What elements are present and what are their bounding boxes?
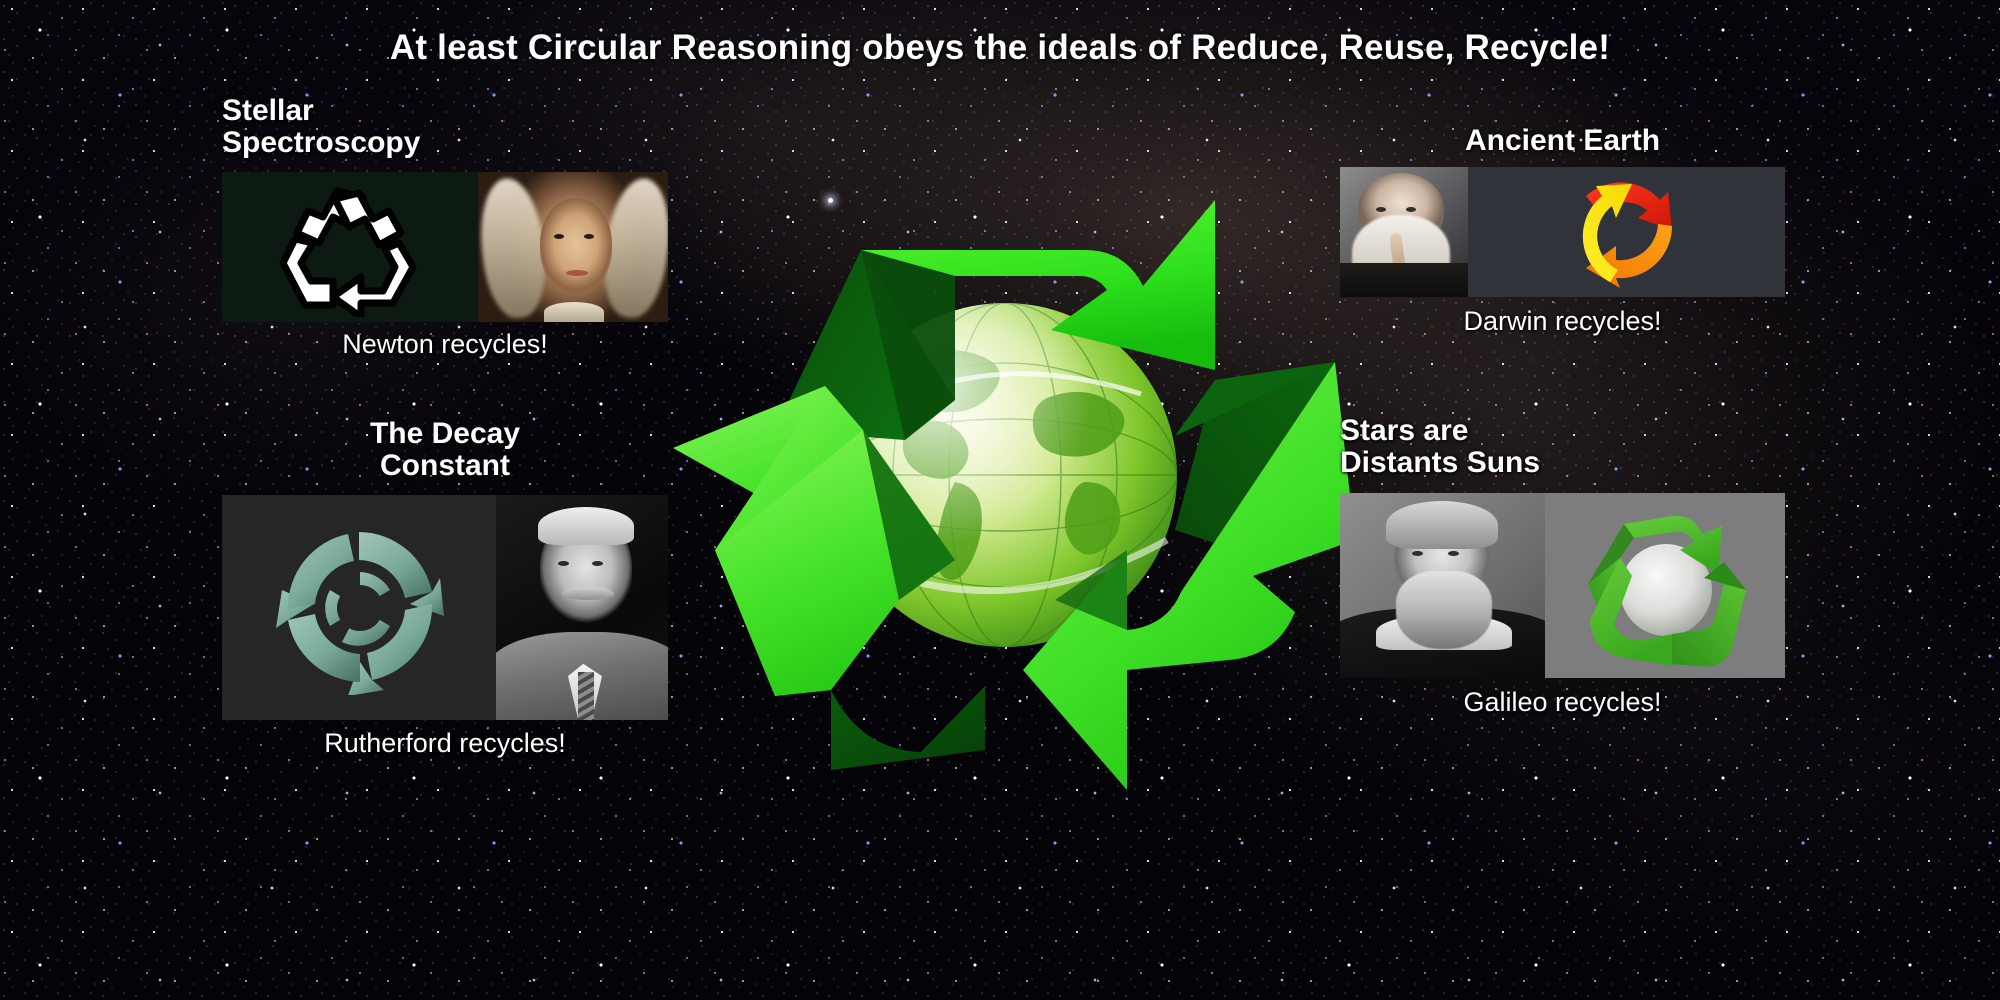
- panel-stellar-spectroscopy: Stellar Spectroscopy: [222, 95, 668, 360]
- panel-stars-distant-suns: Stars are Distants Suns: [1340, 415, 1785, 718]
- newton-eye-right: [584, 234, 594, 239]
- recycle-mobius-white-icon: [222, 172, 478, 322]
- isaac-newton-portrait: [478, 172, 668, 322]
- newton-lips: [566, 270, 588, 276]
- heading-decay-constant: The Decay Constant: [222, 418, 668, 483]
- image-panel-newton: [222, 172, 668, 322]
- galileo-beard: [1396, 571, 1492, 649]
- heading-stars-distant-suns: Stars are Distants Suns: [1340, 415, 1785, 480]
- circular-arrows-teal-icon: [222, 495, 496, 720]
- galileo-hair: [1386, 501, 1498, 549]
- caption-galileo-recycles: Galileo recycles!: [1340, 687, 1785, 718]
- image-panel-darwin: [1340, 167, 1785, 297]
- newton-eye-left: [554, 234, 564, 239]
- recycle-globe-svg: [655, 130, 1355, 840]
- caption-darwin-recycles: Darwin recycles!: [1340, 306, 1785, 337]
- galileo-eye-left: [1412, 551, 1423, 556]
- recycle-3d-green-sphere-svg: [1576, 498, 1754, 673]
- charles-darwin-portrait: [1340, 167, 1468, 297]
- rutherford-tie: [578, 672, 594, 720]
- recycle-globe-logo: [655, 130, 1355, 840]
- galileo-galilei-portrait: [1340, 493, 1545, 678]
- caption-newton-recycles: Newton recycles!: [222, 329, 668, 360]
- caption-rutherford-recycles: Rutherford recycles!: [222, 728, 668, 759]
- three-arrow-cycle-svg: [1564, 172, 1689, 292]
- heading-ancient-earth: Ancient Earth: [1340, 125, 1785, 157]
- panel-ancient-earth: Ancient Earth: [1340, 125, 1785, 337]
- meme-canvas: At least Circular Reasoning obeys the id…: [0, 0, 2000, 1000]
- recycle-3d-green-sphere-icon: [1545, 493, 1785, 678]
- circular-arrows-teal-svg: [272, 520, 447, 695]
- image-panel-rutherford: [222, 495, 668, 720]
- galileo-eye-right: [1448, 551, 1459, 556]
- newton-collar: [544, 302, 604, 322]
- darwin-suit: [1340, 263, 1468, 297]
- heading-stellar-spectroscopy: Stellar Spectroscopy: [222, 95, 668, 160]
- rutherford-eye-left: [558, 561, 569, 566]
- rutherford-hair: [538, 507, 634, 545]
- panel-decay-constant: The Decay Constant: [222, 418, 668, 759]
- ernest-rutherford-portrait: [496, 495, 668, 720]
- image-panel-galileo: [1340, 493, 1785, 678]
- rutherford-eye-right: [592, 561, 603, 566]
- newton-face: [540, 198, 612, 294]
- three-arrow-cycle-color-icon: [1468, 167, 1785, 297]
- page-title: At least Circular Reasoning obeys the id…: [0, 28, 2000, 68]
- recycle-mobius-white-svg: [275, 177, 425, 317]
- rutherford-moustache: [562, 587, 614, 600]
